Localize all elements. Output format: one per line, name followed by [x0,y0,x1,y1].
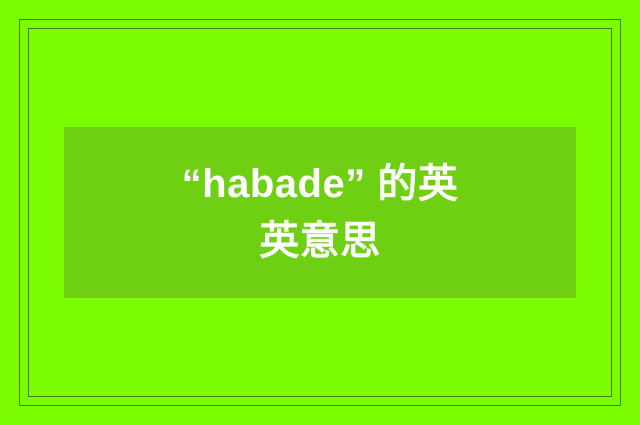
headline-text: “habade” 的英英意思 [170,156,470,270]
image-card: “habade” 的英英意思 [0,0,640,425]
headline-panel: “habade” 的英英意思 [64,127,576,298]
